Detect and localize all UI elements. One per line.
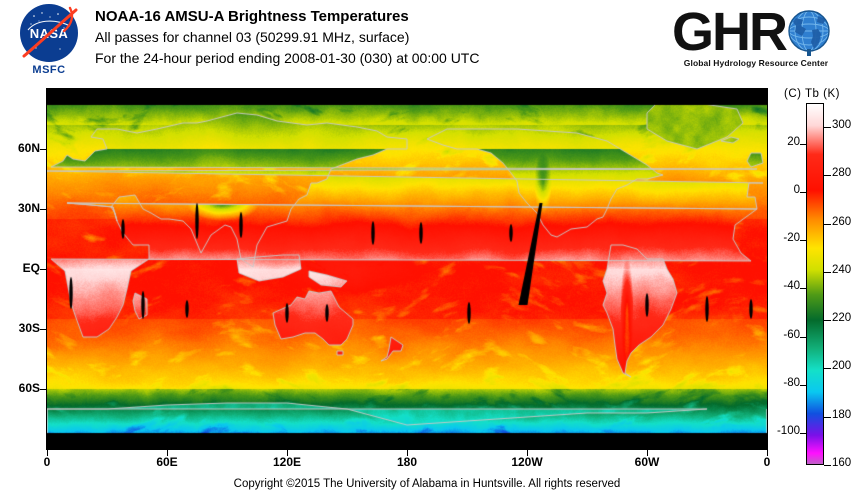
x-axis-tick xyxy=(407,450,408,456)
x-axis-tick-label: 120E xyxy=(267,455,307,469)
colorbar-celsius-label: -80 xyxy=(770,377,800,389)
colorbar-celsius-tick xyxy=(800,385,807,386)
x-axis-tick-label: 0 xyxy=(747,455,787,469)
colorbar-celsius-label: -20 xyxy=(770,232,800,244)
x-axis-tick xyxy=(767,450,768,456)
colorbar-celsius-tick xyxy=(800,192,807,193)
nasa-logo: NASA MSFC xyxy=(10,4,86,84)
colorbar-celsius-label: -100 xyxy=(770,425,800,437)
figure-root: NASA MSFC NOAA-16 AMSU-A Brightness Temp… xyxy=(0,0,854,502)
x-axis-tick-label: 0 xyxy=(27,455,67,469)
y-axis-tick xyxy=(40,389,46,390)
colorbar-kelvin-tick xyxy=(824,224,831,225)
x-axis-tick xyxy=(647,450,648,456)
subtitle-period: For the 24-hour period ending 2008-01-30… xyxy=(95,48,479,69)
colorbar-celsius-tick xyxy=(800,288,807,289)
x-axis-tick-label: 180 xyxy=(387,455,427,469)
x-axis-tick-label: 60E xyxy=(147,455,187,469)
y-axis-tick xyxy=(40,269,46,270)
title-block: NOAA-16 AMSU-A Brightness Temperatures A… xyxy=(95,6,479,69)
colorbar-kelvin-tick xyxy=(824,465,831,466)
x-axis-tick-label: 60W xyxy=(627,455,667,469)
y-axis-tick-label: EQ xyxy=(0,261,40,275)
y-axis-tick-label: 30N xyxy=(0,201,40,215)
page-title: NOAA-16 AMSU-A Brightness Temperatures xyxy=(95,6,479,27)
colorbar-celsius-label: 0 xyxy=(770,184,800,196)
colorbar-celsius-label: -40 xyxy=(770,280,800,292)
colorbar-kelvin-tick xyxy=(824,320,831,321)
colorbar-celsius-tick xyxy=(800,337,807,338)
ghrc-wordmark-icon: GHR xyxy=(672,6,840,58)
colorbar-header: (C) Tb (K) xyxy=(770,88,854,100)
x-axis-tick-label: 120W xyxy=(507,455,547,469)
colorbar-kelvin-label: 300 xyxy=(832,119,851,131)
nasa-swoosh-icon xyxy=(20,4,78,62)
ghrc-subtitle: Global Hydrology Resource Center xyxy=(672,58,840,68)
colorbar-kelvin-label: 220 xyxy=(832,312,851,324)
y-axis-tick xyxy=(40,149,46,150)
colorbar-kelvin-label: 200 xyxy=(832,360,851,372)
x-axis-tick xyxy=(287,450,288,456)
colorbar-kelvin-tick xyxy=(824,417,831,418)
map-plot-area[interactable] xyxy=(46,88,768,450)
y-axis-tick-label: 30S xyxy=(0,321,40,335)
colorbar-celsius-label: -60 xyxy=(770,329,800,341)
colorbar-kelvin-label: 160 xyxy=(832,457,851,469)
colorbar-kelvin-label: 280 xyxy=(832,167,851,179)
y-axis-tick xyxy=(40,209,46,210)
colorbar-kelvin-tick xyxy=(824,272,831,273)
y-axis-tick xyxy=(40,329,46,330)
x-axis-tick xyxy=(47,450,48,456)
copyright-text: Copyright ©2015 The University of Alabam… xyxy=(0,478,854,490)
colorbar-celsius-tick xyxy=(800,144,807,145)
colorbar-celsius-label: 20 xyxy=(770,136,800,148)
x-axis-tick xyxy=(527,450,528,456)
colorbar[interactable] xyxy=(806,103,824,465)
colorbar-celsius-tick xyxy=(800,240,807,241)
nasa-center-label: MSFC xyxy=(10,64,88,76)
colorbar-kelvin-label: 260 xyxy=(832,216,851,228)
brightness-temperature-map[interactable] xyxy=(47,89,767,449)
x-axis-tick xyxy=(167,450,168,456)
y-axis-tick-label: 60S xyxy=(0,381,40,395)
colorbar-kelvin-tick xyxy=(824,127,831,128)
colorbar-celsius-tick xyxy=(800,433,807,434)
colorbar-kelvin-label: 240 xyxy=(832,264,851,276)
svg-text:GHR: GHR xyxy=(672,6,787,58)
colorbar-kelvin-label: 180 xyxy=(832,409,851,421)
subtitle-channel: All passes for channel 03 (50299.91 MHz,… xyxy=(95,27,479,48)
y-axis-tick-label: 60N xyxy=(0,141,40,155)
colorbar-kelvin-tick xyxy=(824,175,831,176)
ghrc-logo: GHR Global Hydrology Resource Center xyxy=(672,6,840,78)
colorbar-kelvin-tick xyxy=(824,368,831,369)
